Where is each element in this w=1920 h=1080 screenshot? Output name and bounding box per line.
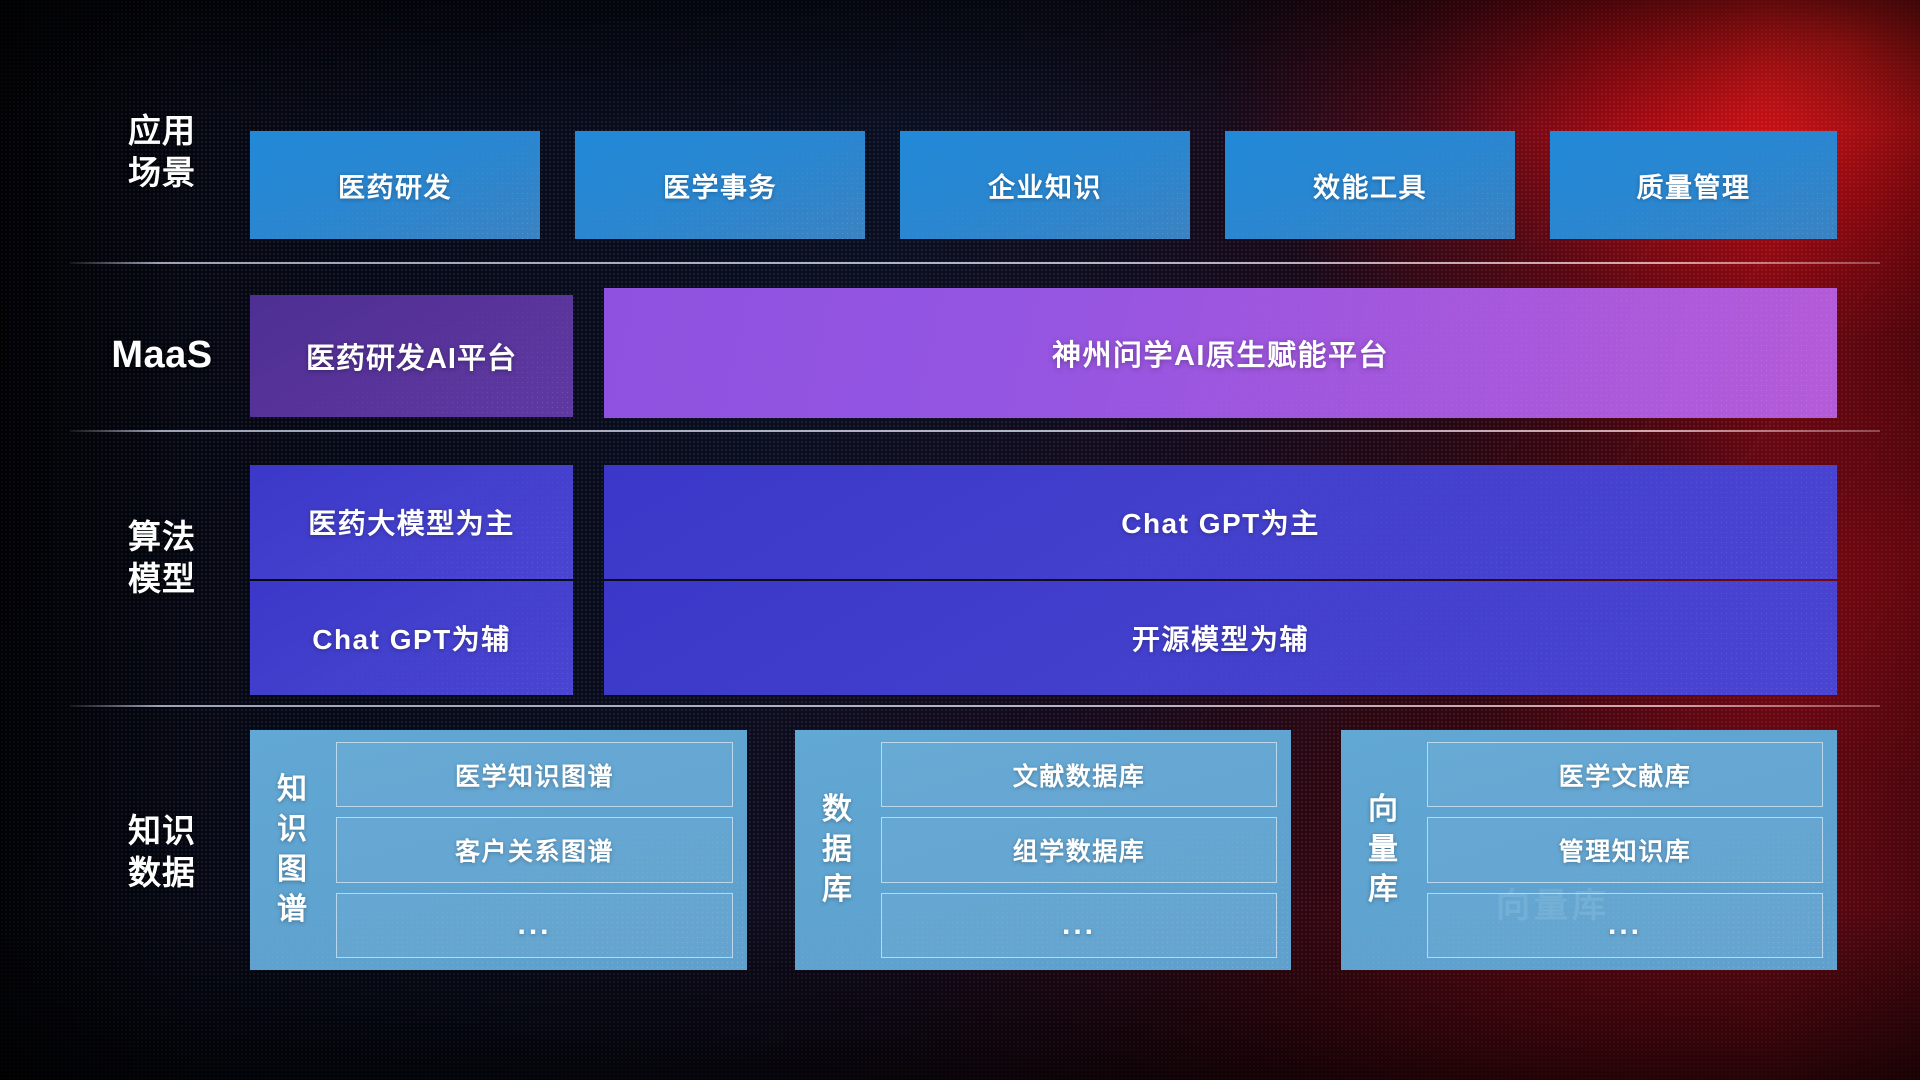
algorithm-box-pharma-llm-primary[interactable]: 医药大模型为主	[250, 465, 573, 579]
app-scenario-box-3[interactable]: 企业知识	[900, 131, 1190, 239]
app-scenario-box-4[interactable]: 效能工具	[1225, 131, 1515, 239]
knowledge-item-label-3-1: 医学文献库	[1559, 757, 1692, 793]
knowledge-item-list-2: 文献数据库 组学数据库 ...	[881, 742, 1277, 958]
knowledge-item-1-3[interactable]: ...	[336, 893, 733, 958]
algorithm-label-chatgpt-primary: Chat GPT为主	[1121, 502, 1320, 542]
knowledge-panel-database[interactable]: 数据库 文献数据库 组学数据库 ...	[795, 730, 1291, 970]
knowledge-item-label-2-2: 组学数据库	[1013, 832, 1146, 868]
maas-label-pharma-ai-platform: 医药研发AI平台	[306, 335, 517, 377]
knowledge-item-label-1-3: ...	[517, 908, 551, 942]
row-label-knowledge-data: 知识 数据	[92, 810, 232, 894]
app-scenario-box-2[interactable]: 医学事务	[575, 131, 865, 239]
knowledge-panel-side-label-1: 知识图谱	[250, 742, 336, 958]
divider-application-maas	[70, 262, 1880, 264]
knowledge-panel-side-label-3: 向量库	[1341, 742, 1427, 958]
knowledge-item-1-1[interactable]: 医学知识图谱	[336, 742, 733, 807]
algorithm-box-opensource-secondary[interactable]: 开源模型为辅	[604, 581, 1837, 695]
knowledge-item-3-3[interactable]: ...	[1427, 893, 1823, 958]
app-scenario-label-1: 医药研发	[338, 166, 452, 205]
knowledge-item-label-2-3: ...	[1062, 908, 1096, 942]
app-scenario-box-1[interactable]: 医药研发	[250, 131, 540, 239]
knowledge-item-2-3[interactable]: ...	[881, 893, 1277, 958]
maas-box-pharma-ai-platform[interactable]: 医药研发AI平台	[250, 295, 573, 417]
knowledge-item-list-1: 医学知识图谱 客户关系图谱 ...	[336, 742, 733, 958]
divider-maas-algorithm	[70, 430, 1880, 432]
algorithm-label-opensource-secondary: 开源模型为辅	[1132, 618, 1309, 658]
app-scenario-label-4: 效能工具	[1313, 166, 1427, 205]
row-label-maas: MaaS	[92, 334, 232, 376]
knowledge-item-3-1[interactable]: 医学文献库	[1427, 742, 1823, 807]
knowledge-panel-vector-database[interactable]: 向量库 医学文献库 管理知识库 ... 向量库	[1341, 730, 1837, 970]
knowledge-item-1-2[interactable]: 客户关系图谱	[336, 817, 733, 882]
knowledge-item-list-3: 医学文献库 管理知识库 ...	[1427, 742, 1823, 958]
knowledge-item-label-1-1: 医学知识图谱	[455, 757, 614, 793]
row-label-application-scenarios: 应用 场景	[92, 110, 232, 194]
knowledge-panel-side-label-text-2: 数据库	[821, 790, 855, 910]
architecture-diagram-slide: 应用 场景 医药研发 医学事务 企业知识 效能工具 质量管理 MaaS 医药研发…	[0, 0, 1920, 1080]
knowledge-item-label-3-3: ...	[1608, 908, 1642, 942]
divider-algorithm-knowledge	[70, 705, 1880, 707]
knowledge-item-3-2[interactable]: 管理知识库	[1427, 817, 1823, 882]
algorithm-box-chatgpt-secondary[interactable]: Chat GPT为辅	[250, 581, 573, 695]
app-scenario-label-5: 质量管理	[1637, 166, 1751, 205]
knowledge-panel-side-label-2: 数据库	[795, 742, 881, 958]
knowledge-item-label-1-2: 客户关系图谱	[455, 832, 614, 868]
knowledge-item-label-3-2: 管理知识库	[1559, 832, 1692, 868]
algorithm-box-chatgpt-primary[interactable]: Chat GPT为主	[604, 465, 1837, 579]
knowledge-panel-side-label-text-3: 向量库	[1367, 790, 1401, 910]
app-scenario-label-2: 医学事务	[663, 166, 777, 205]
knowledge-item-2-1[interactable]: 文献数据库	[881, 742, 1277, 807]
app-scenario-label-3: 企业知识	[988, 166, 1102, 205]
knowledge-item-label-2-1: 文献数据库	[1013, 757, 1146, 793]
knowledge-panel-side-label-text-1: 知识图谱	[276, 770, 310, 930]
algorithm-label-pharma-llm-primary: 医药大模型为主	[308, 502, 515, 542]
algorithm-label-chatgpt-secondary: Chat GPT为辅	[312, 618, 511, 658]
maas-box-shenzhou-wenxue-platform[interactable]: 神州问学AI原生赋能平台	[604, 288, 1837, 418]
maas-label-shenzhou-wenxue-platform: 神州问学AI原生赋能平台	[1052, 332, 1389, 374]
app-scenario-box-5[interactable]: 质量管理	[1550, 131, 1837, 239]
knowledge-panel-knowledge-graph[interactable]: 知识图谱 医学知识图谱 客户关系图谱 ...	[250, 730, 747, 970]
knowledge-item-2-2[interactable]: 组学数据库	[881, 817, 1277, 882]
row-label-algorithm-model: 算法 模型	[92, 516, 232, 600]
